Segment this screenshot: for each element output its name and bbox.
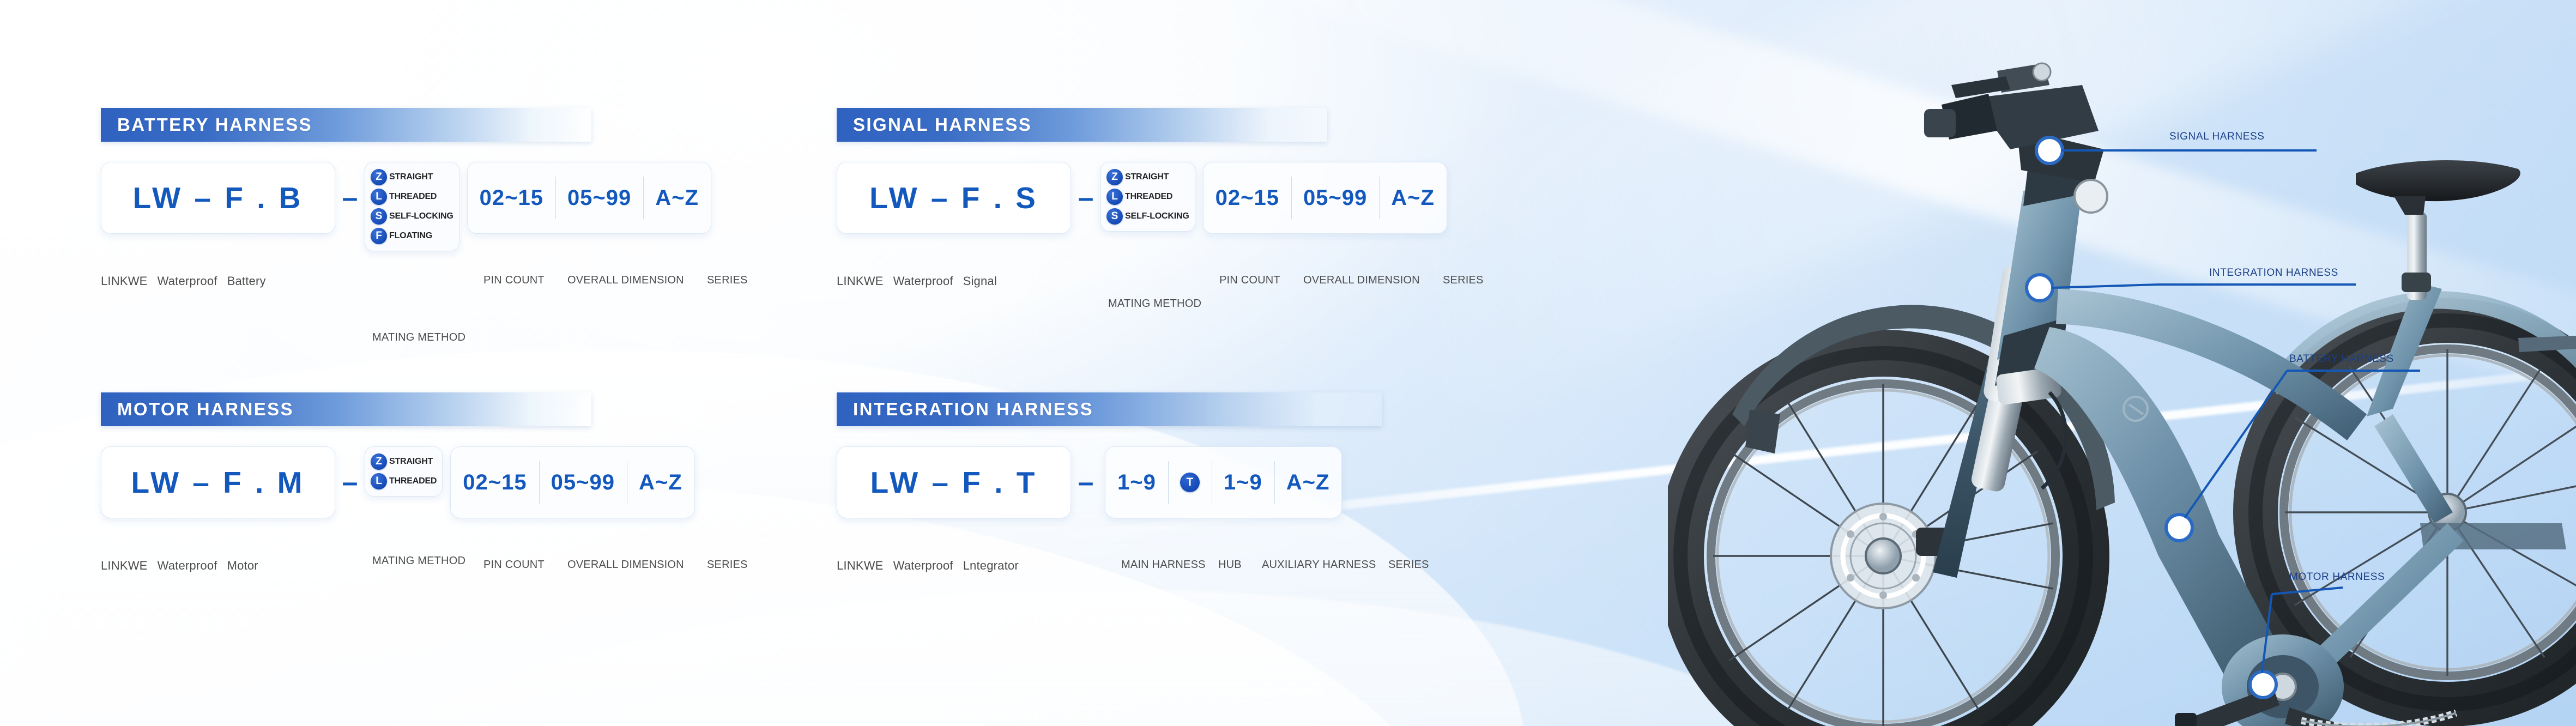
range-value-overall-dimension: 05~99 (567, 186, 631, 210)
mating-option-row[interactable]: L THREADED (371, 473, 437, 489)
range-value-series: A~Z (1391, 186, 1435, 210)
section-header-integration: INTEGRATION HARNESS (837, 392, 1382, 426)
callout-label-signal-harness: SIGNAL HARNESS (2169, 131, 2265, 143)
mating-option-row[interactable]: F FLOATING (371, 228, 453, 244)
range-value-main-harness: 1~9 (1117, 470, 1156, 495)
code-box-battery[interactable]: LW – F . B (101, 162, 335, 234)
range-cell-series[interactable]: A~Z (1274, 447, 1342, 518)
range-cell-series[interactable]: A~Z (1379, 162, 1447, 233)
mating-badge-s-icon: S (1106, 208, 1123, 225)
range-cell-auxiliary-harness[interactable]: 1~9 (1212, 447, 1274, 518)
caption-mating-method-motor: MATING METHOD (372, 555, 465, 567)
caption-series-integration: SERIES (1388, 559, 1429, 571)
section-header-signal: SIGNAL HARNESS (837, 108, 1327, 142)
caption-code-signal: LINKWE Waterproof Signal (837, 274, 997, 288)
mating-option-row[interactable]: S SELF-LOCKING (371, 208, 453, 225)
mating-badge-l-icon: L (371, 473, 387, 489)
mating-badge-s-icon: S (371, 208, 387, 225)
caption-code-motor: LINKWE Waterproof Motor (101, 559, 258, 573)
code-text-battery: LW – F . B (133, 180, 304, 215)
callout-label-integration-harness: INTEGRATION HARNESS (2209, 267, 2338, 279)
mating-badge-l-icon: L (1106, 189, 1123, 205)
caption-word: Waterproof (158, 274, 217, 288)
hub-badge-t-icon: T (1180, 473, 1200, 492)
range-value-auxiliary-harness: 1~9 (1224, 470, 1262, 495)
mating-badge-l-icon: L (371, 189, 387, 205)
range-box-signal[interactable]: 02~15 05~99 A~Z (1203, 162, 1447, 234)
section-signal-harness: SIGNAL HARNESS LW – F . S – Z STRAIGHT L… (837, 108, 1447, 234)
caption-word: LINKWE (101, 274, 148, 288)
mating-option-row[interactable]: S SELF-LOCKING (1106, 208, 1189, 225)
caption-word: Waterproof (893, 559, 953, 573)
range-value-series: A~Z (655, 186, 699, 210)
mating-option-row[interactable]: Z STRAIGHT (371, 169, 453, 185)
range-cell-pin-count[interactable]: 02~15 (1204, 162, 1291, 233)
mating-option-label: SELF-LOCKING (389, 211, 453, 221)
section-integration-harness: INTEGRATION HARNESS LW – F . T – 1~9 T 1… (837, 392, 1382, 518)
code-box-motor[interactable]: LW – F . M (101, 446, 335, 518)
range-box-motor[interactable]: 02~15 05~99 A~Z (450, 446, 694, 518)
code-separator-integration: – (1071, 446, 1100, 518)
caption-pin-count-signal: PIN COUNT (1219, 274, 1280, 287)
mating-option-label: FLOATING (389, 231, 432, 241)
range-cell-overall-dimension[interactable]: 05~99 (555, 162, 643, 233)
caption-word: LINKWE (837, 274, 884, 288)
ebike-illustration (1668, 33, 2576, 726)
caption-series-signal: SERIES (1443, 274, 1484, 287)
range-cell-pin-count[interactable]: 02~15 (451, 447, 539, 518)
mating-option-label: STRAIGHT (1125, 172, 1169, 182)
callout-label-motor-harness: MOTOR HARNESS (2289, 571, 2385, 583)
code-separator-battery: – (335, 162, 365, 234)
section-title-signal: SIGNAL HARNESS (853, 114, 1032, 135)
mating-option-row[interactable]: Z STRAIGHT (1106, 169, 1189, 185)
mating-method-card-motor[interactable]: Z STRAIGHT L THREADED (365, 446, 443, 497)
caption-word: Waterproof (158, 559, 217, 573)
section-header-battery: BATTERY HARNESS (101, 108, 591, 142)
range-value-series: A~Z (1286, 470, 1330, 495)
caption-mating-method-battery: MATING METHOD (372, 331, 465, 344)
caption-word: Motor (227, 559, 258, 573)
caption-mating-method-signal: MATING METHOD (1108, 298, 1201, 310)
mating-badge-f-icon: F (371, 228, 387, 244)
section-title-integration: INTEGRATION HARNESS (853, 399, 1093, 420)
caption-code-integration: LINKWE Waterproof Lntegrator (837, 559, 1019, 573)
code-box-integration[interactable]: LW – F . T (837, 446, 1071, 518)
mating-option-row[interactable]: Z STRAIGHT (371, 453, 437, 470)
caption-word: LINKWE (101, 559, 148, 573)
range-value-pin-count: 02~15 (463, 470, 527, 495)
callout-label-battery-harness: BATTERY HARNESS (2289, 353, 2394, 365)
mating-option-label: THREADED (389, 192, 437, 202)
caption-overall-dimension-motor: OVERALL DIMENSION (567, 559, 684, 571)
section-title-battery: BATTERY HARNESS (117, 114, 312, 135)
caption-overall-dimension-signal: OVERALL DIMENSION (1303, 274, 1420, 287)
code-separator-motor: – (335, 446, 365, 518)
caption-overall-dimension-battery: OVERALL DIMENSION (567, 274, 684, 287)
range-cell-overall-dimension[interactable]: 05~99 (1291, 162, 1379, 233)
mating-option-label: THREADED (1125, 192, 1172, 202)
range-value-overall-dimension: 05~99 (1303, 186, 1367, 210)
mating-option-label: STRAIGHT (389, 172, 433, 182)
mating-method-card-signal[interactable]: Z STRAIGHT L THREADED S SELF-LOCKING (1100, 162, 1195, 232)
section-header-motor: MOTOR HARNESS (101, 392, 591, 426)
range-cell-pin-count[interactable]: 02~15 (468, 162, 555, 233)
code-text-signal: LW – F . S (869, 180, 1038, 215)
mating-option-row[interactable]: L THREADED (371, 189, 453, 205)
range-cell-series[interactable]: A~Z (627, 447, 694, 518)
caption-word: Signal (963, 274, 997, 288)
mating-option-row[interactable]: L THREADED (1106, 189, 1189, 205)
caption-series-battery: SERIES (707, 274, 748, 287)
code-separator-signal: – (1071, 162, 1100, 234)
caption-main-harness: MAIN HARNESS (1121, 559, 1206, 571)
range-value-series: A~Z (639, 470, 682, 495)
section-battery-harness: BATTERY HARNESS LW – F . B – Z STRAIGHT … (101, 108, 711, 251)
caption-word: Waterproof (893, 274, 953, 288)
caption-word: Battery (227, 274, 266, 288)
range-cell-series[interactable]: A~Z (643, 162, 711, 233)
section-motor-harness: MOTOR HARNESS LW – F . M – Z STRAIGHT L … (101, 392, 695, 518)
caption-word: LINKWE (837, 559, 884, 573)
mating-option-label: THREADED (389, 476, 437, 486)
range-box-integration[interactable]: 1~9 T 1~9 A~Z (1105, 446, 1342, 518)
handlebar-cluster (1924, 63, 2107, 213)
code-text-integration: LW – F . T (870, 465, 1038, 500)
range-value-pin-count: 02~15 (480, 186, 543, 210)
range-value-pin-count: 02~15 (1216, 186, 1279, 210)
range-value-overall-dimension: 05~99 (551, 470, 615, 495)
mating-option-label: STRAIGHT (389, 457, 433, 467)
mating-badge-z-icon: Z (371, 169, 387, 185)
mating-badge-z-icon: Z (371, 453, 387, 470)
range-cell-overall-dimension[interactable]: 05~99 (539, 447, 627, 518)
caption-word: Lntegrator (963, 559, 1019, 573)
range-cell-main-harness[interactable]: 1~9 (1105, 447, 1168, 518)
section-title-motor: MOTOR HARNESS (117, 399, 294, 420)
range-cell-hub[interactable]: T (1168, 447, 1212, 518)
mating-badge-z-icon: Z (1106, 169, 1123, 185)
caption-auxiliary-harness: AUXILIARY HARNESS (1262, 559, 1376, 571)
caption-hub: HUB (1218, 559, 1242, 571)
range-box-battery[interactable]: 02~15 05~99 A~Z (467, 162, 711, 234)
code-box-signal[interactable]: LW – F . S (837, 162, 1071, 234)
mating-method-card-battery[interactable]: Z STRAIGHT L THREADED S SELF-LOCKING F F… (365, 162, 459, 251)
caption-series-motor: SERIES (707, 559, 748, 571)
mating-option-label: SELF-LOCKING (1125, 211, 1189, 221)
caption-code-battery: LINKWE Waterproof Battery (101, 274, 266, 288)
code-text-motor: LW – F . M (131, 465, 305, 500)
caption-pin-count-motor: PIN COUNT (483, 559, 545, 571)
caption-pin-count-battery: PIN COUNT (483, 274, 545, 287)
